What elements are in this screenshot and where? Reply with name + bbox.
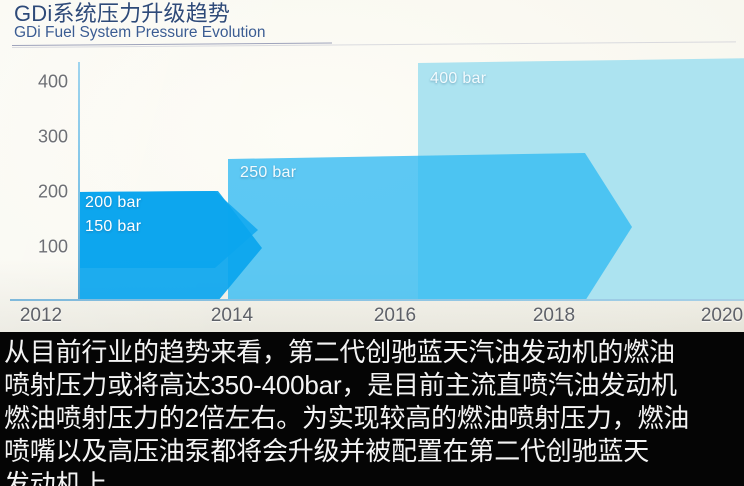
presentation-slide: GDi系统压力升级趋势 GDi Fuel System Pressure Evo…: [0, 0, 744, 332]
x-tick-2012: 2012: [20, 305, 62, 327]
band-label-150: 150 bar: [85, 218, 141, 236]
article-caption: 从目前行业的趋势来看，第二代创驰蓝天汽油发动机的燃油 喷射压力或将高达350-4…: [0, 332, 744, 486]
x-axis-line: [10, 299, 744, 301]
caption-line: 发动机上。: [4, 468, 740, 486]
slide-title-block: GDi系统压力升级趋势 GDi Fuel System Pressure Evo…: [14, 2, 266, 41]
y-axis-line: [78, 62, 80, 300]
band-label-400: 400 bar: [430, 70, 486, 88]
x-tick-2014: 2014: [211, 305, 253, 327]
x-tick-2020: 2020: [701, 305, 743, 327]
x-tick-2018: 2018: [533, 305, 575, 327]
y-tick-300: 300: [38, 127, 68, 148]
screenshot-root: GDi系统压力升级趋势 GDi Fuel System Pressure Evo…: [0, 0, 744, 486]
caption-line: 喷嘴以及高压油泵都将会升级并被配置在第二代创驰蓝天: [4, 435, 740, 468]
caption-line: 喷射压力或将高达350-400bar，是目前主流直喷汽油发动机: [4, 369, 740, 402]
x-tick-2016: 2016: [374, 305, 416, 327]
y-tick-400: 400: [38, 72, 68, 93]
band-label-200: 200 bar: [85, 194, 141, 212]
caption-line: 燃油喷射压力的2倍左右。为实现较高的燃油喷射压力，燃油: [4, 402, 740, 435]
caption-line: 从目前行业的趋势来看，第二代创驰蓝天汽油发动机的燃油: [4, 336, 740, 369]
chart-bands: [0, 0, 744, 332]
slide-title-english: GDi Fuel System Pressure Evolution: [14, 24, 266, 41]
band-label-250: 250 bar: [240, 164, 296, 182]
y-tick-100: 100: [38, 237, 68, 258]
y-tick-200: 200: [38, 182, 68, 203]
slide-title-chinese: GDi系统压力升级趋势: [14, 2, 266, 25]
